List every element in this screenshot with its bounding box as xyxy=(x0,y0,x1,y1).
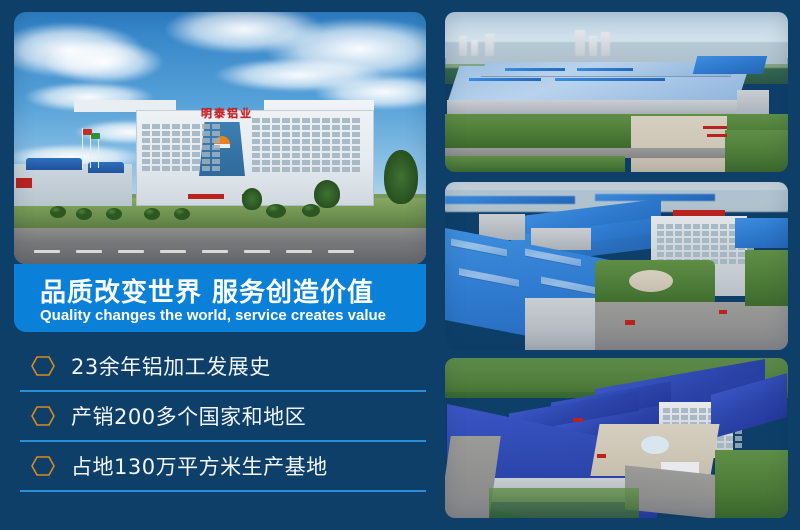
vehicle xyxy=(625,320,635,325)
bush xyxy=(144,208,160,220)
bush xyxy=(302,204,320,217)
tree xyxy=(384,150,418,204)
hexagon-icon xyxy=(31,454,55,478)
road-stripe xyxy=(76,250,102,253)
roof-ridge xyxy=(505,68,565,71)
bush xyxy=(174,208,190,220)
tree xyxy=(242,188,262,210)
flag xyxy=(91,133,100,139)
promo-banner-page: 明泰铝业 xyxy=(0,0,800,530)
roof-ridge xyxy=(469,78,541,81)
left-column: 明泰铝业 xyxy=(14,12,426,518)
road-stripe xyxy=(34,250,60,253)
vehicle xyxy=(573,418,583,422)
hexagon-icon xyxy=(31,354,55,378)
fountain xyxy=(641,436,669,454)
landscaping xyxy=(489,488,639,518)
distant-tower xyxy=(589,36,597,56)
bush xyxy=(106,208,122,220)
slogan-headline-en: Quality changes the world, service creat… xyxy=(40,307,386,324)
window-grid xyxy=(142,124,220,171)
tree-belt xyxy=(445,156,625,172)
right-gallery-column xyxy=(445,12,788,518)
vehicle xyxy=(597,454,606,458)
distant-tower xyxy=(459,36,467,56)
distant-tower xyxy=(485,34,494,56)
feature-item[interactable]: 23余年铝加工发展史 xyxy=(20,342,426,392)
road-stripe xyxy=(160,250,186,253)
courtyard-road xyxy=(595,302,788,350)
tree xyxy=(314,180,340,208)
road-stripe xyxy=(244,250,270,253)
gallery-photo-factory-aerial-plant xyxy=(445,182,788,350)
slogan-banner: 品质改变世界 服务创造价值 Quality changes the world,… xyxy=(14,264,426,332)
hero-headquarters-photo: 明泰铝业 xyxy=(14,12,426,264)
road-stripe xyxy=(202,250,228,253)
feature-item[interactable]: 产销200多个国家和地区 xyxy=(20,392,426,442)
road-stripe xyxy=(286,250,312,253)
red-sign xyxy=(16,178,32,188)
red-entrance-carpet xyxy=(188,194,224,199)
parking-lot xyxy=(631,116,727,172)
feature-item-label: 23余年铝加工发展史 xyxy=(71,351,271,381)
cloud-shape xyxy=(44,40,164,84)
building-sign: 明泰铝业 xyxy=(201,105,253,121)
bush xyxy=(266,204,286,218)
bush xyxy=(76,208,92,220)
gallery-photo-factory-aerial-wide xyxy=(445,12,788,172)
tree-belt xyxy=(715,450,788,518)
factory-wall xyxy=(447,100,747,114)
feature-item-label: 产销200多个国家和地区 xyxy=(71,401,306,431)
window-grid xyxy=(252,118,360,172)
distant-tower xyxy=(575,30,585,56)
gallery-photo-factory-rendering xyxy=(445,358,788,518)
feature-list: 23余年铝加工发展史 产销200多个国家和地区 占地130万平方米生产基地 xyxy=(14,342,426,492)
tree-belt xyxy=(745,250,788,306)
fountain xyxy=(629,270,673,292)
vehicle-row xyxy=(707,134,727,137)
distant-tower xyxy=(601,32,610,56)
hexagon-icon xyxy=(31,404,55,428)
blue-roof xyxy=(88,162,124,173)
vehicle xyxy=(719,310,727,314)
rooftop-sign xyxy=(673,210,725,216)
factory-annex xyxy=(737,90,769,116)
road-stripe xyxy=(118,250,144,253)
tree-belt xyxy=(725,130,788,172)
distant-roof xyxy=(445,196,575,204)
bush xyxy=(50,206,66,218)
distant-tower xyxy=(471,40,478,56)
factory-roof-blue xyxy=(693,56,767,74)
side-hall-roof xyxy=(735,218,788,248)
flagpole xyxy=(98,136,99,168)
vehicle-row xyxy=(703,126,727,129)
blue-roof xyxy=(26,158,82,170)
road-stripe xyxy=(328,250,354,253)
roof-ridge xyxy=(555,78,665,81)
hero-road xyxy=(14,228,426,264)
slogan-headline-cn: 品质改变世界 服务创造价值 xyxy=(40,272,374,309)
feature-item-label: 占地130万平方米生产基地 xyxy=(71,451,328,481)
feature-item[interactable]: 占地130万平方米生产基地 xyxy=(20,442,426,492)
roof-ridge xyxy=(577,68,633,71)
